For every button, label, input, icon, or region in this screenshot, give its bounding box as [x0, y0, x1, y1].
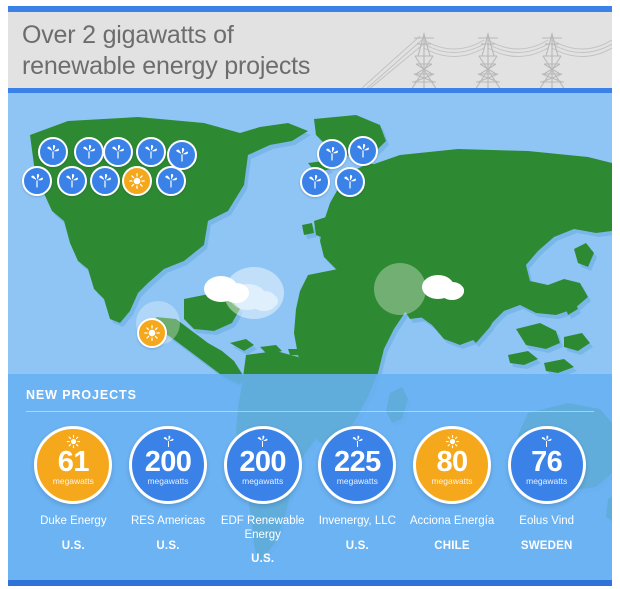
header-banner: Over 2 gigawatts of renewable energy pro… — [8, 12, 612, 90]
wind-turbine-icon — [63, 172, 81, 190]
project-value: 200 — [145, 448, 192, 477]
project-badge: 200 megawatts — [129, 426, 207, 504]
wind-turbine-icon — [341, 173, 359, 191]
project-badge: 225 megawatts — [318, 426, 396, 504]
map-marker-wind[interactable] — [74, 137, 104, 167]
project-value: 225 — [334, 448, 381, 477]
project-value: 200 — [239, 448, 286, 477]
project-card[interactable]: 200 megawatts EDF Renewable Energy U.S. — [215, 426, 310, 565]
wind-turbine-icon — [162, 172, 180, 190]
project-company: Eolus Vind — [519, 515, 574, 529]
infographic-root: Over 2 gigawatts of renewable energy pro… — [0, 0, 620, 589]
project-card[interactable]: 200 megawatts RES Americas U.S. — [121, 426, 216, 565]
project-card[interactable]: 80 megawatts Acciona Energía CHILE — [405, 426, 500, 565]
wind-turbine-icon — [142, 143, 160, 161]
wind-turbine-icon — [323, 145, 341, 163]
project-badge: 76 megawatts — [508, 426, 586, 504]
project-company: Invenergy, LLC — [319, 515, 396, 529]
wind-turbine-icon — [173, 146, 191, 164]
project-card-list: 61 megawatts Duke Energy U.S. — [26, 426, 594, 565]
project-company: Acciona Energía — [410, 515, 494, 529]
map-marker-wind[interactable] — [103, 137, 133, 167]
new-projects-panel: NEW PROJECTS — [8, 374, 612, 580]
project-company: Duke Energy — [40, 515, 106, 529]
map-marker-wind[interactable] — [90, 166, 120, 196]
cloud-icon — [422, 275, 464, 300]
map-marker-wind[interactable] — [156, 166, 186, 196]
project-card[interactable]: 76 megawatts Eolus Vind SWEDEN — [499, 426, 594, 565]
wind-turbine-icon — [109, 143, 127, 161]
wind-turbine-icon — [306, 173, 324, 191]
map-marker-wind[interactable] — [335, 167, 365, 197]
project-card[interactable]: 225 megawatts Invenergy, LLC U.S. — [310, 426, 405, 565]
project-unit: megawatts — [526, 476, 567, 486]
panel-divider — [26, 411, 594, 412]
wind-turbine-icon — [80, 143, 98, 161]
project-badge: 80 megawatts — [413, 426, 491, 504]
project-value: 61 — [58, 448, 89, 477]
wind-turbine-icon — [28, 172, 46, 190]
project-country: U.S. — [62, 540, 85, 552]
map-marker-wind[interactable] — [317, 139, 347, 169]
project-unit: megawatts — [431, 476, 472, 486]
world-map: NEW PROJECTS — [8, 93, 612, 580]
wind-turbine-icon — [354, 142, 372, 160]
map-marker-solar[interactable] — [122, 166, 152, 196]
project-value: 80 — [436, 448, 467, 477]
project-value: 76 — [531, 448, 562, 477]
transmission-towers-illustration — [362, 18, 612, 90]
map-marker-wind[interactable] — [136, 137, 166, 167]
project-country: SWEDEN — [521, 540, 573, 552]
map-marker-wind[interactable] — [300, 167, 330, 197]
project-unit: megawatts — [53, 476, 94, 486]
project-card[interactable]: 61 megawatts Duke Energy U.S. — [26, 426, 121, 565]
panel-title: NEW PROJECTS — [26, 388, 594, 402]
map-marker-wind[interactable] — [38, 137, 68, 167]
project-badge: 61 megawatts — [34, 426, 112, 504]
map-marker-wind[interactable] — [57, 166, 87, 196]
wind-turbine-icon — [96, 172, 114, 190]
cloud-icon — [374, 263, 426, 315]
project-unit: megawatts — [337, 476, 378, 486]
project-country: U.S. — [156, 540, 179, 552]
wind-turbine-icon — [44, 143, 62, 161]
project-company: EDF Renewable Energy — [221, 515, 305, 542]
bottom-accent-rule — [8, 580, 612, 586]
project-country: CHILE — [434, 540, 470, 552]
map-marker-solar[interactable] — [137, 318, 167, 348]
tower-icon — [411, 34, 437, 90]
sun-icon — [128, 172, 146, 190]
project-company: RES Americas — [131, 515, 205, 529]
sun-icon — [143, 324, 161, 342]
map-marker-wind[interactable] — [348, 136, 378, 166]
project-badge: 200 megawatts — [224, 426, 302, 504]
project-country: U.S. — [346, 540, 369, 552]
project-unit: megawatts — [242, 476, 283, 486]
project-country: U.S. — [251, 553, 274, 565]
project-unit: megawatts — [147, 476, 188, 486]
map-marker-wind[interactable] — [22, 166, 52, 196]
